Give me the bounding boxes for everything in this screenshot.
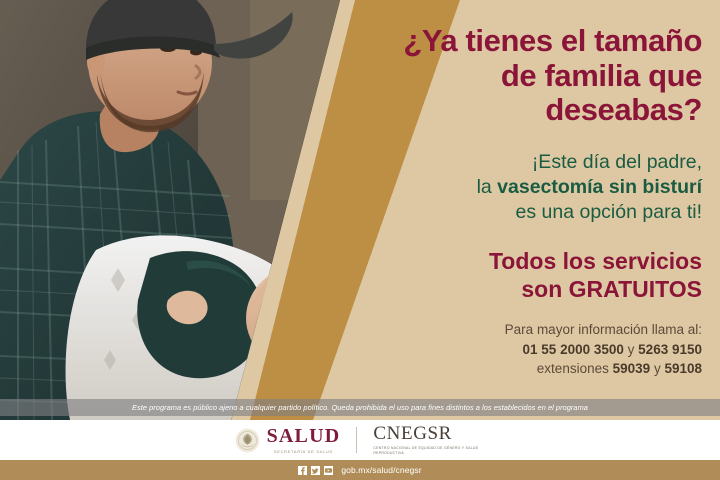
contact-phone-1: 01 55 2000 3500 xyxy=(523,342,624,357)
contact-ext-1: 59039 xyxy=(613,361,651,376)
page-title: ¿Ya tienes el tamaño de familia que dese… xyxy=(302,0,702,128)
vasectomy-message: ¡Este día del padre, la vasectomía sin b… xyxy=(302,128,702,225)
free-services-line-2: son GRATUITOS xyxy=(521,276,702,302)
cnegsr-logo: CNEGSR CENTRO NACIONAL DE EQUIDAD DE GÉN… xyxy=(373,424,485,455)
free-services-message: Todos los servicios son GRATUITOS xyxy=(302,225,702,303)
twitter-icon[interactable] xyxy=(311,466,320,475)
vasectomy-line-2-prefix: la xyxy=(477,176,498,198)
contact-conjunction-1: y xyxy=(628,342,635,357)
contact-conjunction-2: y xyxy=(654,361,661,376)
mexican-coat-of-arms-icon xyxy=(235,428,260,453)
contact-ext-2: 59108 xyxy=(664,361,702,376)
cnegsr-subtitle: CENTRO NACIONAL DE EQUIDAD DE GÉNERO Y S… xyxy=(373,446,485,455)
vasectomy-highlight: vasectomía sin bisturí xyxy=(497,176,702,198)
salud-subtitle: SECRETARÍA DE SALUD xyxy=(274,449,333,454)
contact-phone-2: 5263 9150 xyxy=(638,342,702,357)
logo-row: SALUD SECRETARÍA DE SALUD CNEGSR CENTRO … xyxy=(235,424,486,455)
legal-disclaimer: Este programa es público ajeno a cualqui… xyxy=(0,399,720,416)
contact-ext-label: extensiones xyxy=(537,361,609,376)
logo-band: SALUD SECRETARÍA DE SALUD CNEGSR CENTRO … xyxy=(0,420,720,460)
headline-line-1: ¿Ya tienes el tamaño xyxy=(403,23,702,58)
salud-logo: SALUD SECRETARÍA DE SALUD xyxy=(267,426,341,454)
free-services-line-1: Todos los servicios xyxy=(489,248,702,274)
vasectomy-line-3: es una opción para ti! xyxy=(516,201,702,223)
poster-canvas: ¿Ya tienes el tamaño de familia que dese… xyxy=(0,0,720,480)
social-bar: gob.mx/salud/cnegsr xyxy=(0,460,720,480)
salud-wordmark: SALUD xyxy=(267,426,341,446)
youtube-icon[interactable] xyxy=(324,466,333,475)
headline-line-2: de familia que xyxy=(501,58,702,93)
facebook-icon[interactable] xyxy=(298,466,307,475)
contact-intro: Para mayor información llama al: xyxy=(505,322,702,337)
logo-divider xyxy=(356,427,357,453)
headline-line-3: deseabas? xyxy=(545,92,702,127)
poster-copy: ¿Ya tienes el tamaño de familia que dese… xyxy=(302,0,702,379)
site-url[interactable]: gob.mx/salud/cnegsr xyxy=(341,465,421,475)
cnegsr-wordmark: CNEGSR xyxy=(373,424,452,443)
contact-info: Para mayor información llama al: 01 55 2… xyxy=(302,303,702,379)
vasectomy-line-1: ¡Este día del padre, xyxy=(532,151,702,173)
